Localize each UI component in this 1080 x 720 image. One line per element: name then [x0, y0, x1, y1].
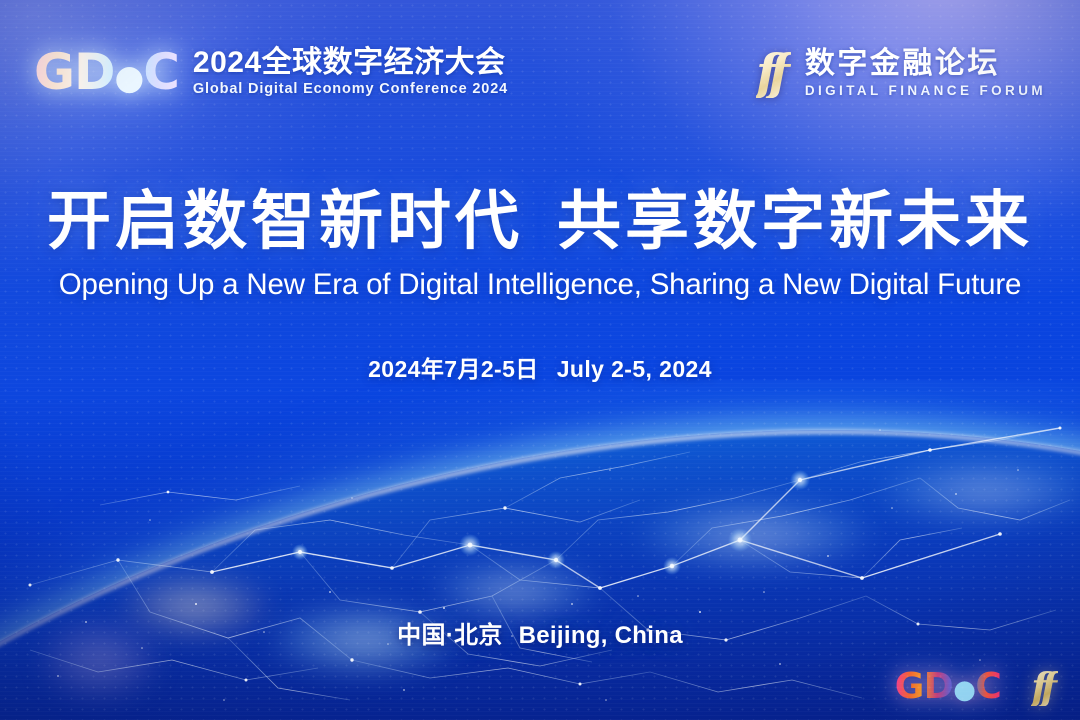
gdec-logo: GD●C [34, 47, 179, 97]
digital-finance-forum-monogram-footer: ff [1031, 668, 1058, 706]
backdrop-main-content: 开启数智新时代共享数字新未来 Opening Up a New Era of D… [0, 188, 1080, 384]
location-en: Beijing, China [519, 622, 683, 649]
footer-logo-row: GD●C ff [895, 668, 1058, 706]
event-date-en: July 2-5, 2024 [557, 356, 712, 382]
headline-english: Opening Up a New Era of Digital Intellig… [0, 268, 1080, 302]
finance-forum-brand-lockup: ff 数字金融论坛 DIGITAL FINANCE FORUM [756, 48, 1046, 98]
event-dates: 2024年7月2-5日July 2-5, 2024 [0, 350, 1080, 384]
gdec-logo-footer: GD●C [895, 669, 1002, 705]
backdrop-header: GD●C 2024全球数字经济大会 Global Digital Economy… [0, 0, 1080, 140]
digital-finance-forum-monogram: ff [756, 48, 791, 98]
conference-title-en: Global Digital Economy Conference 2024 [193, 82, 508, 97]
headline-cn-part1: 开启数智新时代 [47, 185, 523, 257]
gdec-brand-lockup: GD●C 2024全球数字经济大会 Global Digital Economy… [34, 47, 508, 97]
forum-title-cn: 数字金融论坛 [805, 48, 1000, 80]
headline-chinese: 开启数智新时代共享数字新未来 [0, 188, 1080, 256]
headline-cn-part2: 共享数字新未来 [557, 185, 1033, 257]
conference-title-cn: 2024全球数字经济大会 [193, 47, 508, 79]
gdec-logo-footer-dot: ● [953, 675, 975, 705]
forum-title-en: DIGITAL FINANCE FORUM [805, 84, 1046, 98]
gdec-logo-dot: ● [115, 58, 144, 98]
location-cn: 中国·北京 [397, 622, 503, 649]
event-location: 中国·北京Beijing, China [0, 615, 1080, 650]
conference-backdrop: GD●C 2024全球数字经济大会 Global Digital Economy… [0, 0, 1080, 720]
event-date-cn: 2024年7月2-5日 [368, 356, 539, 382]
